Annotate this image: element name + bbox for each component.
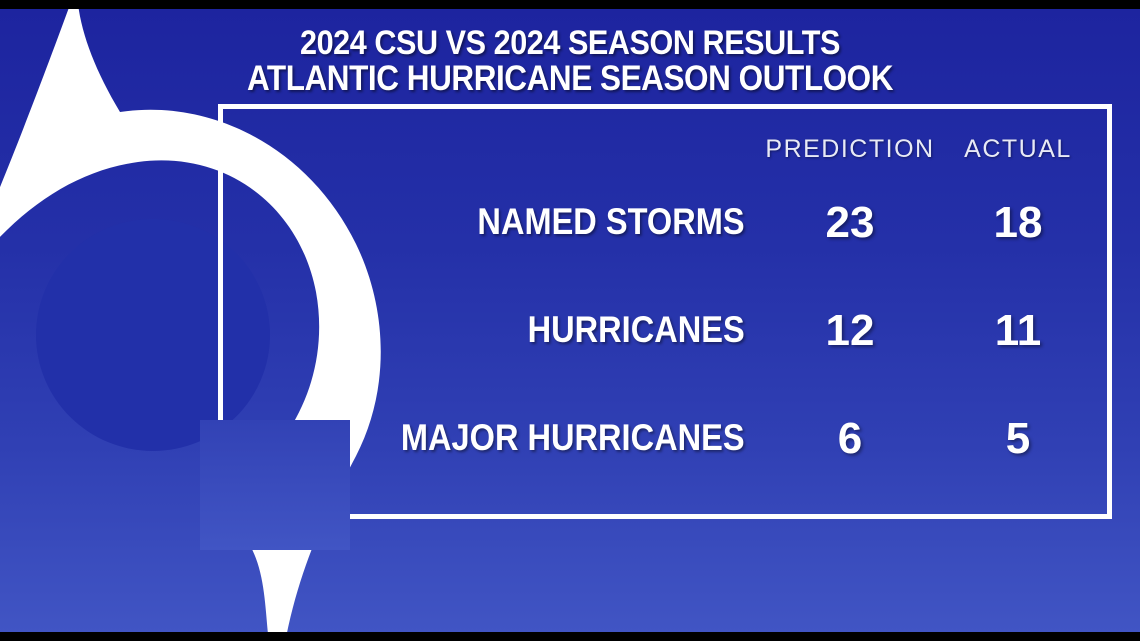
column-header-actual: ACTUAL: [930, 135, 1106, 164]
table-row-label-major-hurricanes: MAJOR HURRICANES: [401, 417, 745, 459]
table-cell-prediction-major-hurricanes: 6: [750, 414, 950, 464]
table-cell-prediction-named-storms: 23: [750, 198, 950, 248]
letterbox-top: [0, 0, 1140, 9]
letterbox-bottom: [0, 632, 1140, 641]
table-cell-actual-major-hurricanes: 5: [930, 414, 1106, 464]
results-table: PREDICTION ACTUAL NAMED STORMS 23 18 HUR…: [0, 0, 1140, 641]
weather-graphic: 2024 CSU VS 2024 SEASON RESULTS ATLANTIC…: [0, 0, 1140, 641]
table-cell-prediction-hurricanes: 12: [750, 306, 950, 356]
table-row-label-named-storms: NAMED STORMS: [478, 201, 745, 243]
table-row-label-hurricanes: HURRICANES: [528, 309, 745, 351]
table-cell-actual-named-storms: 18: [930, 198, 1106, 248]
table-cell-actual-hurricanes: 11: [930, 306, 1106, 356]
column-header-prediction: PREDICTION: [750, 135, 950, 164]
